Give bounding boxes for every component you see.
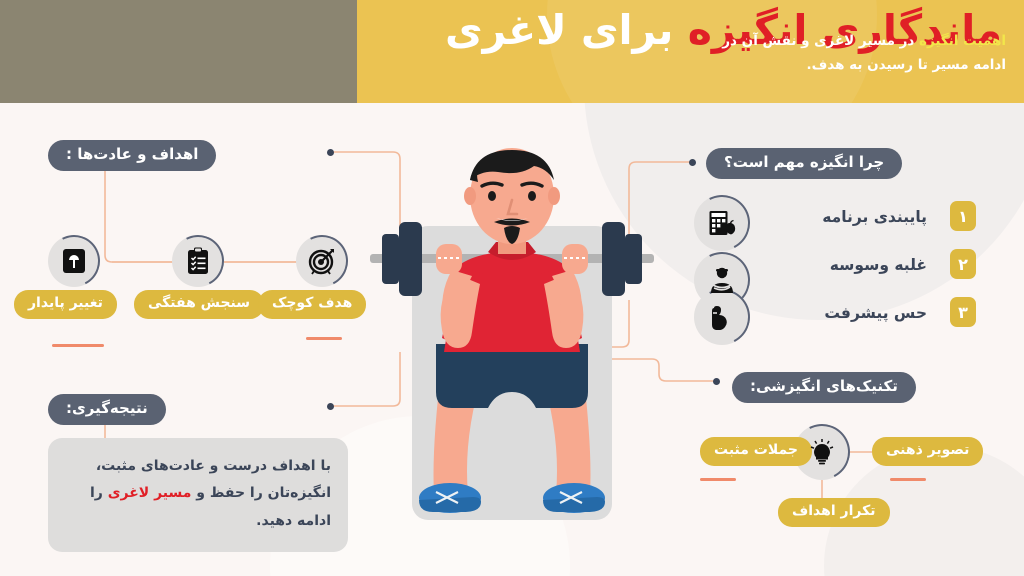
technique-pill-left[interactable]: جملات مثبت	[700, 437, 812, 466]
goals-section-heading: اهداف و عادت‌ها :	[48, 140, 216, 171]
connector-dot-why	[689, 159, 696, 166]
divider-techniques	[890, 478, 926, 481]
why-icon-badge-0	[694, 195, 750, 251]
divider-goals	[52, 344, 104, 347]
target-dart-icon	[307, 246, 337, 276]
connector-dot-goals	[327, 149, 334, 156]
header-subtitle: اهمیت انگیزه در مسیر لاغری و نقش آن در ا…	[686, 30, 1006, 77]
why-icon-badge-2	[694, 289, 750, 345]
why-label-0: پایبندی برنامه	[822, 208, 927, 226]
conclusion-text-accent: مسیر لاغری	[108, 485, 192, 501]
conclusion-text-box: با اهداف درست و عادت‌های مثبت، انگیزه‌تا…	[48, 438, 348, 552]
goal-pill-1[interactable]: سنجش هفتگی	[134, 290, 264, 319]
weight-scale-icon	[61, 247, 87, 275]
why-number-0: ۱	[950, 201, 976, 231]
conclusion-section-heading: نتیجه‌گیری:	[48, 394, 166, 425]
goal-pill-0[interactable]: تغییر پایدار	[14, 290, 117, 319]
why-label-2: حس پیشرفت	[824, 304, 927, 322]
goal-icon-badge-2	[296, 235, 348, 287]
header-left-block	[0, 0, 357, 103]
goal-icon-badge-0	[48, 235, 100, 287]
divider-techniques-left	[700, 478, 736, 481]
calorie-calendar-apple-icon	[708, 209, 736, 237]
header-subtitle-accent: اهمیت انگیزه	[919, 33, 1006, 49]
divider-center-left	[306, 337, 342, 340]
goal-icon-badge-1	[172, 235, 224, 287]
goal-pill-2[interactable]: هدف کوچک	[258, 290, 366, 319]
techniques-section-heading: تکنیک‌های انگیزشی:	[732, 372, 916, 403]
infographic-canvas: ماندگاری انگیزه برای لاغری اهمیت انگیزه …	[0, 0, 1024, 576]
connector-dot-conclusion	[327, 403, 334, 410]
flexed-bicep-icon	[709, 304, 735, 330]
page-title-rest: برای لاغری	[445, 6, 688, 54]
header-banner: ماندگاری انگیزه برای لاغری اهمیت انگیزه …	[0, 0, 1024, 103]
lightbulb-icon	[809, 438, 835, 466]
why-section-heading: چرا انگیزه مهم است؟	[706, 148, 902, 179]
why-label-1: غلبه وسوسه	[830, 256, 927, 274]
why-number-2: ۳	[950, 297, 976, 327]
illustration-man-squatting-with-barbell	[370, 148, 654, 528]
why-number-1: ۲	[950, 249, 976, 279]
technique-pill-bottom[interactable]: تکرار اهداف	[778, 498, 890, 527]
clipboard-checklist-icon	[186, 247, 210, 275]
person-crossed-arms-icon	[709, 266, 735, 294]
technique-pill-right[interactable]: تصویر ذهنی	[872, 437, 983, 466]
connector-dot-techniques	[713, 378, 720, 385]
